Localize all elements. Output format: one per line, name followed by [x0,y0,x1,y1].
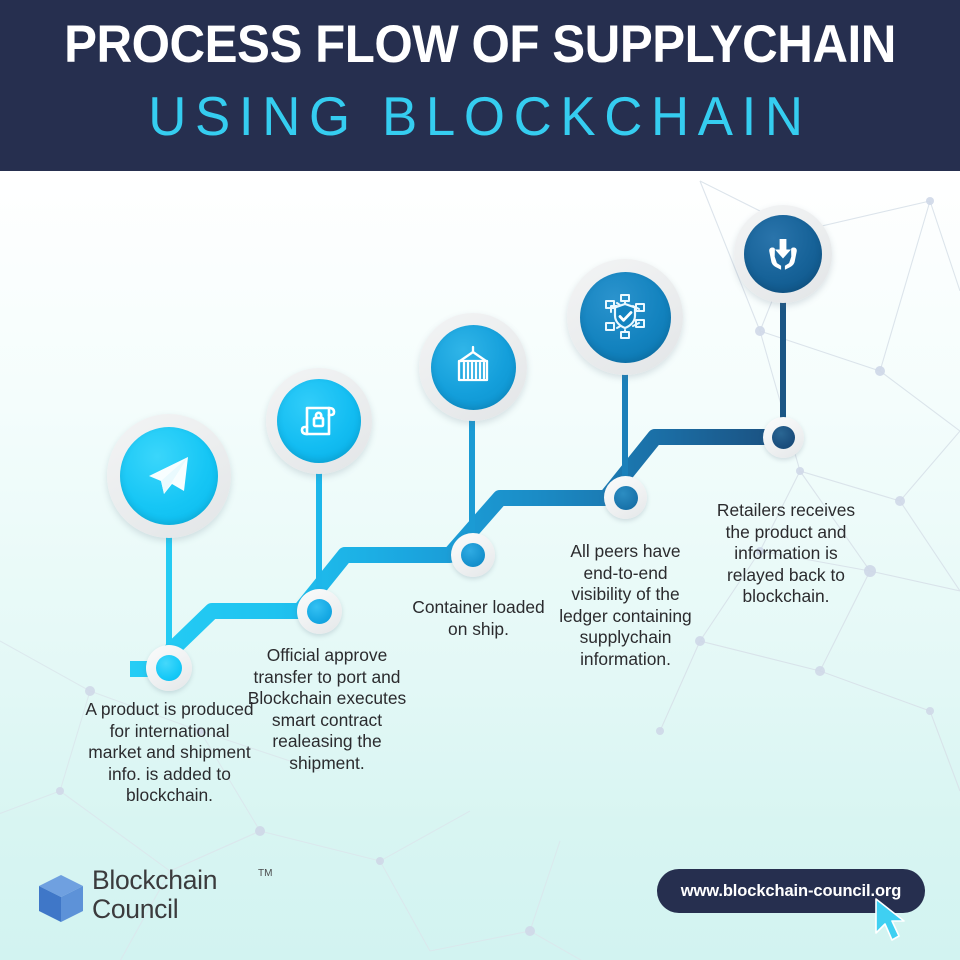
step-bubble-1[interactable] [107,414,231,538]
page-title-line-1: PROCESS FLOW OF SUPPLYCHAIN [34,14,927,75]
step-caption-3: Container loaded on ship. [401,597,556,640]
step-bubble-2[interactable] [266,368,372,474]
header-banner: PROCESS FLOW OF SUPPLYCHAIN USING BLOCKC… [0,0,960,171]
path-node-2-dot [307,599,332,624]
path-node-2[interactable] [297,589,342,634]
path-node-5[interactable] [763,417,804,458]
path-node-4[interactable] [604,476,647,519]
step-bubble-2-disc [277,379,361,463]
page-title-line-2: USING BLOCKCHAIN [19,84,941,148]
step-bubble-3[interactable] [419,313,527,421]
path-node-3-dot [461,543,485,567]
trademark-symbol: TM [258,868,272,879]
shipping-container-icon [448,342,498,392]
logo-wordmark: Blockchain Council [92,866,217,924]
paper-plane-icon [141,448,197,504]
path-node-3[interactable] [451,533,495,577]
path-node-1-dot [156,655,182,681]
step-caption-5: Retailers receives the product and infor… [716,500,856,608]
path-node-4-dot [614,486,638,510]
infographic-canvas: PROCESS FLOW OF SUPPLYCHAIN USING BLOCKC… [0,0,960,960]
brand-logo[interactable]: Blockchain Council TM [36,866,266,934]
step-bubble-5[interactable] [734,205,832,303]
step-caption-1: A product is produced for international … [83,699,256,807]
step-bubble-3-disc [431,325,516,410]
path-node-5-dot [772,426,795,449]
network-shield-check-icon [598,290,652,344]
logo-wordmark-line-1: Blockchain [92,865,217,895]
contract-lock-icon [295,397,343,445]
step-bubble-1-disc [120,427,218,525]
mouse-cursor-icon [873,897,911,943]
step-caption-4: All peers have end-to-end visibility of … [553,541,698,670]
website-url-label: www.blockchain-council.org [681,882,901,901]
step-caption-2: Official approve transfer to port and Bl… [247,645,407,774]
step-bubble-4[interactable] [567,259,683,375]
cube-logo-icon [36,873,86,925]
step-bubble-5-disc [744,215,822,293]
path-node-1[interactable] [146,645,192,691]
receiving-hands-icon [760,231,806,277]
step-bubble-4-disc [580,272,671,363]
logo-wordmark-line-2: Council [92,894,178,924]
